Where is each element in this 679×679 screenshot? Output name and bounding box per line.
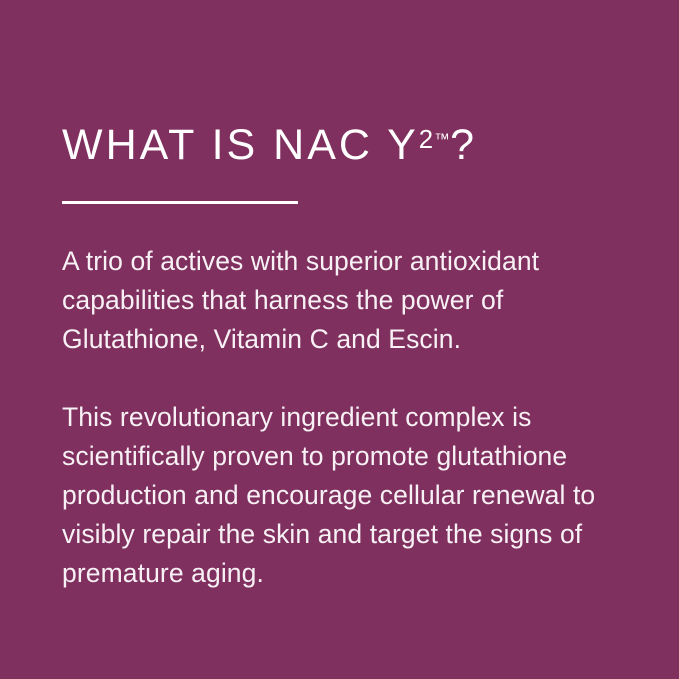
body-copy: A trio of actives with superior antioxid…	[62, 242, 634, 593]
description-paragraph: This revolutionary ingredient complex is…	[62, 398, 634, 593]
card-content: WHAT IS NAC Y2™? A trio of actives with …	[62, 120, 634, 593]
page-title-question-mark: ?	[450, 121, 474, 169]
trademark-icon: ™	[434, 131, 450, 148]
page-title-main-text: WHAT IS NAC Y	[62, 121, 419, 169]
product-info-card: WHAT IS NAC Y2™? A trio of actives with …	[0, 0, 679, 679]
superscript-two: 2	[419, 126, 434, 154]
description-paragraph: A trio of actives with superior antioxid…	[62, 242, 634, 359]
page-title: WHAT IS NAC Y2™?	[62, 120, 634, 180]
heading-underline-rule	[62, 201, 298, 204]
